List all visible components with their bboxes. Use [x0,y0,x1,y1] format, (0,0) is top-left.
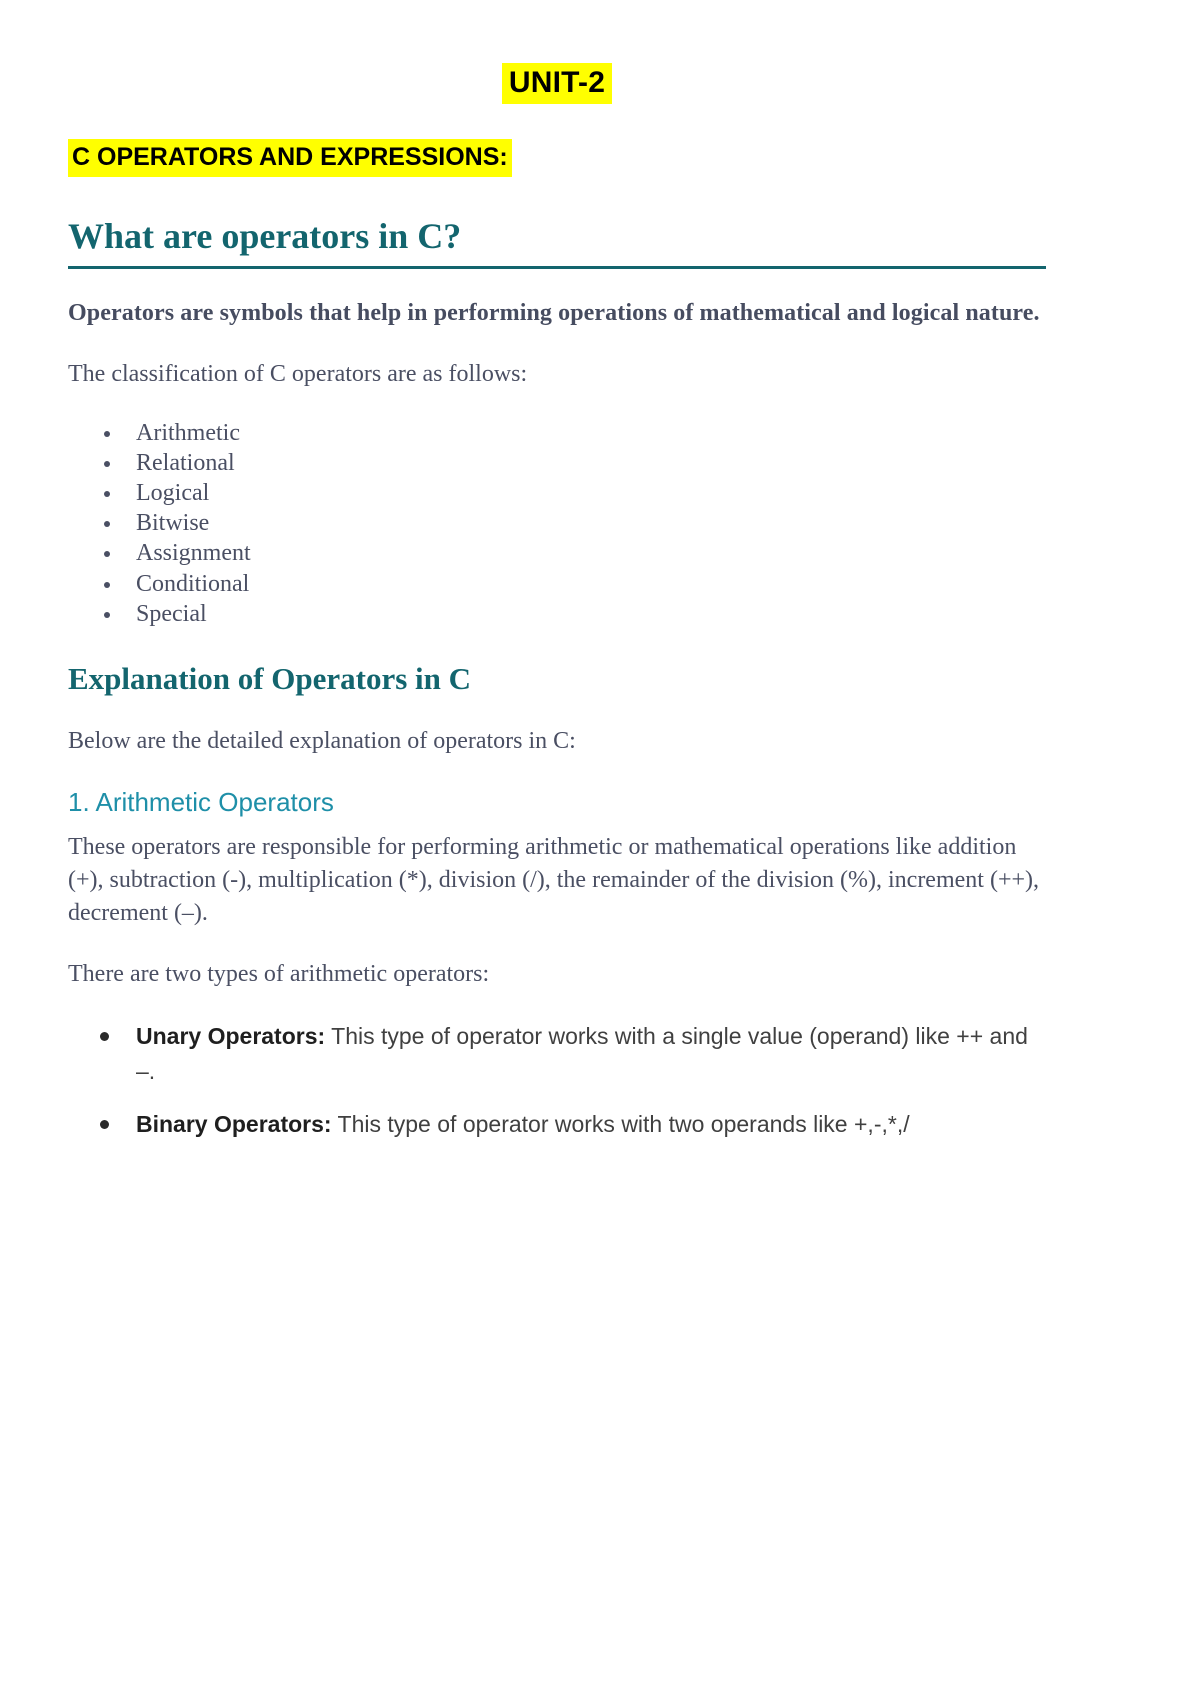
list-item: Special [68,599,1046,629]
heading-explanation-of-operators: Explanation of Operators in C [68,629,1046,697]
classification-lead-paragraph: The classification of C operators are as… [68,330,1046,391]
section-heading: C OPERATORS AND EXPRESSIONS: [68,98,1046,170]
list-item-text: This type of operator works with two ope… [332,1111,910,1137]
types-lead-paragraph: There are two types of arithmetic operat… [68,930,1046,991]
list-item: Bitwise [68,508,1046,538]
heading-arithmetic-operators: 1. Arithmetic Operators [68,758,1046,817]
section-heading-highlight: C OPERATORS AND EXPRESSIONS: [68,139,512,177]
explanation-lead-paragraph: Below are the detailed explanation of op… [68,697,1046,758]
arithmetic-operator-types-list: Unary Operators: This type of operator w… [68,991,1046,1142]
list-item: Assignment [68,538,1046,568]
document-page: UNIT-2 C OPERATORS AND EXPRESSIONS: What… [0,0,1200,1696]
arithmetic-description-paragraph: These operators are responsible for perf… [68,817,1046,930]
page-title-highlight: UNIT-2 [502,63,612,104]
document-content: UNIT-2 C OPERATORS AND EXPRESSIONS: What… [68,0,1046,1160]
list-item: Relational [68,448,1046,478]
operator-classification-list: Arithmetic Relational Logical Bitwise As… [68,392,1046,630]
list-item-lead: Binary Operators: [136,1111,332,1137]
list-item: Unary Operators: This type of operator w… [68,1019,1046,1089]
page-title: UNIT-2 [68,0,1046,98]
list-item: Logical [68,478,1046,508]
heading-what-are-operators: What are operators in C? [68,170,1046,256]
list-item: Binary Operators: This type of operator … [68,1107,1046,1142]
intro-paragraph: Operators are symbols that help in perfo… [68,269,1046,330]
list-item: Arithmetic [68,418,1046,448]
list-item-lead: Unary Operators: [136,1023,325,1049]
list-item: Conditional [68,569,1046,599]
